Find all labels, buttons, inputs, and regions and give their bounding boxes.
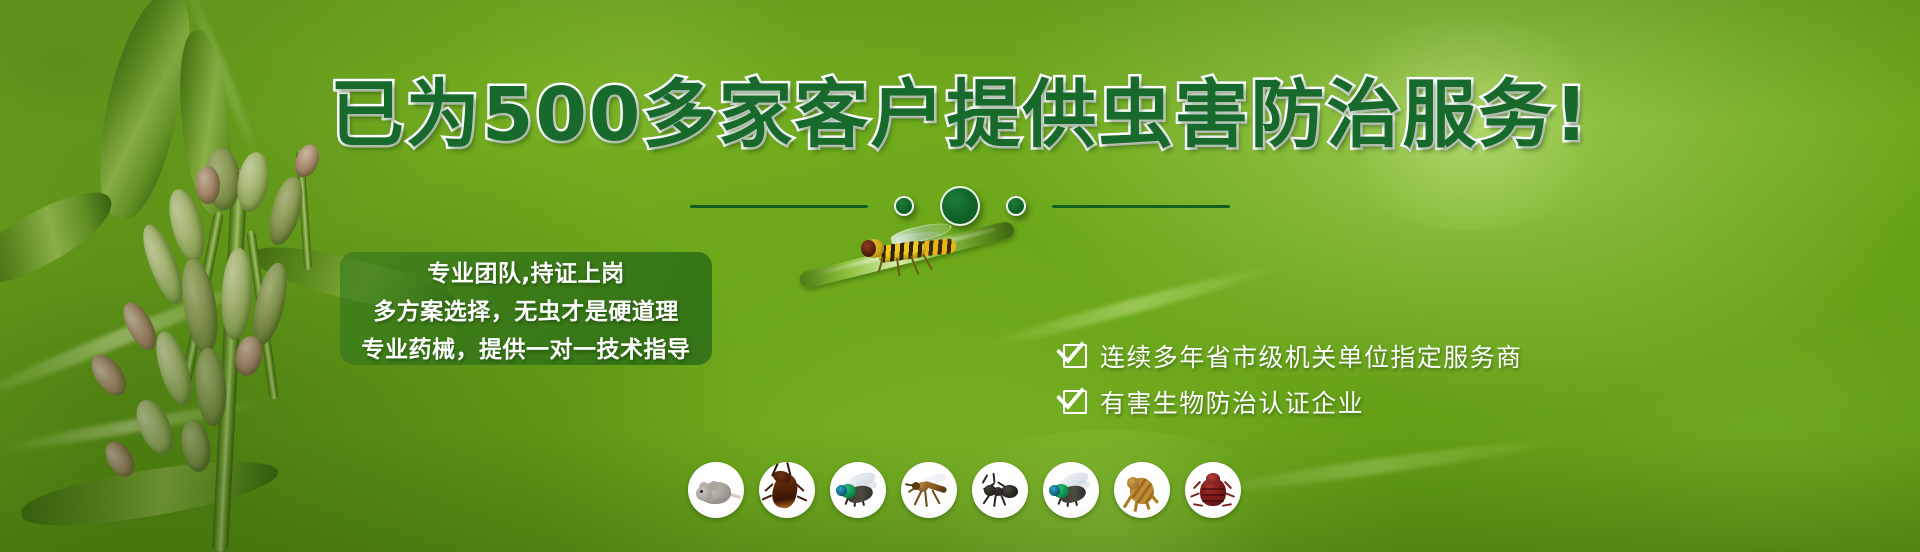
hoverfly-leg bbox=[896, 258, 900, 276]
cockroach-leg bbox=[762, 494, 773, 500]
hoverfly-leg bbox=[910, 256, 919, 275]
credentials-checklist: 连续多年省市级机关单位指定服务商 有害生物防治认证企业 bbox=[1063, 333, 1522, 425]
ant-antenna bbox=[992, 473, 995, 483]
bokeh-blur bbox=[1600, 300, 1920, 550]
flea-head bbox=[1127, 477, 1139, 489]
divider-dot-small-left bbox=[894, 196, 914, 216]
ant-abdomen bbox=[1001, 485, 1018, 498]
flea-icon[interactable] bbox=[1114, 462, 1170, 518]
mouse-eye bbox=[700, 490, 703, 493]
bedbug-icon[interactable] bbox=[1185, 462, 1241, 518]
plant-leaf bbox=[18, 450, 282, 536]
checkbox-checked-icon bbox=[1063, 390, 1087, 414]
ant-antenna bbox=[982, 474, 989, 484]
hoverfly-eye bbox=[861, 240, 876, 257]
bedbug-head bbox=[1206, 473, 1220, 484]
mosquito-leg bbox=[914, 490, 923, 505]
list-item: 有害生物防治认证企业 bbox=[1063, 379, 1522, 425]
fly-head bbox=[1049, 485, 1060, 496]
pest-icon-row bbox=[688, 462, 1241, 518]
claims-panel: 专业团队,持证上岗 多方案选择，无虫才是硬道理 专业药械，提供一对一技术指导 bbox=[340, 252, 712, 365]
cockroach-leg bbox=[797, 495, 808, 501]
mouse-head bbox=[696, 486, 712, 501]
plant-bud bbox=[85, 349, 134, 401]
hoverfly-leg bbox=[922, 254, 933, 271]
hoverfly-on-grass-blade-decor bbox=[800, 215, 1100, 325]
bedbug-segment bbox=[1202, 494, 1224, 496]
fly-head bbox=[836, 485, 847, 496]
divider-rule-left bbox=[690, 205, 868, 208]
promo-banner: 已为500多家客户提供虫害防治服务! 专业团队,持证上岗 多方案选择，无虫才是硬… bbox=[0, 0, 1920, 552]
divider-rule-right bbox=[1052, 205, 1230, 208]
mouse-icon[interactable] bbox=[688, 462, 744, 518]
hoverfly-thorax bbox=[877, 240, 927, 264]
ant-icon[interactable] bbox=[972, 462, 1028, 518]
fly-icon-2[interactable] bbox=[1043, 462, 1099, 518]
bedbug-leg bbox=[1190, 492, 1200, 498]
bedbug-segment bbox=[1202, 500, 1224, 502]
checklist-label: 连续多年省市级机关单位指定服务商 bbox=[1100, 338, 1522, 374]
ant-head bbox=[984, 485, 996, 496]
plant-bud bbox=[220, 248, 253, 341]
divider-dot-small-right bbox=[1006, 196, 1026, 216]
plant-bud bbox=[176, 256, 224, 356]
mosquito-proboscis bbox=[905, 483, 915, 487]
hoverfly-icon bbox=[858, 223, 962, 275]
mosquito-leg bbox=[924, 491, 928, 507]
bedbug-leg bbox=[1225, 492, 1235, 498]
fly-icon[interactable] bbox=[830, 462, 886, 518]
list-item: 连续多年省市级机关单位指定服务商 bbox=[1063, 333, 1522, 379]
page-title: 已为500多家客户提供虫害防治服务! bbox=[0, 78, 1920, 152]
mosquito-icon[interactable] bbox=[901, 462, 957, 518]
cockroach-icon[interactable] bbox=[759, 462, 815, 518]
bedbug-leg bbox=[1193, 503, 1203, 507]
bedbug-leg bbox=[1222, 503, 1232, 507]
plant-bud bbox=[129, 394, 181, 459]
checklist-label: 有害生物防治认证企业 bbox=[1100, 384, 1364, 420]
claims-panel-line-2: 多方案选择，无虫才是硬道理 bbox=[373, 292, 679, 326]
claims-panel-line-3: 专业药械，提供一对一技术指导 bbox=[362, 330, 691, 364]
claims-panel-line-1: 专业团队,持证上岗 bbox=[427, 254, 624, 288]
headline-text: 已为500多家客户提供虫害防治服务! bbox=[330, 72, 1590, 158]
checkbox-checked-icon bbox=[1063, 344, 1087, 368]
bedbug-segment bbox=[1202, 488, 1224, 490]
